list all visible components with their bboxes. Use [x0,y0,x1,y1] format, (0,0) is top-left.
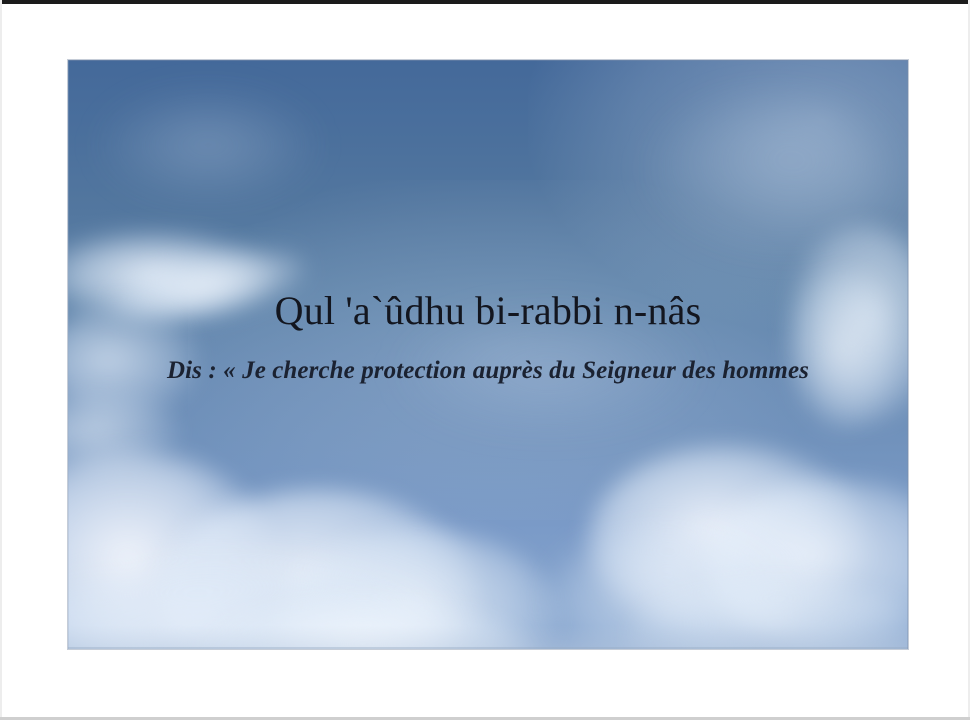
caption-block: Qul 'a`ûdhu bi-rabbi n-nâs Dis : « Je ch… [68,288,908,386]
cloud-bottom-left-2 [158,490,478,649]
cloud-top-right-faint [648,100,888,250]
transliteration-text: Qul 'a`ûdhu bi-rabbi n-nâs [68,288,908,334]
frame-left-rule [0,0,2,720]
cloud-left-wisp-d [68,390,178,470]
cloud-bottom-left-5 [198,600,528,649]
cloud-bottom-right-3 [548,530,788,649]
page-frame: Qul 'a`ûdhu bi-rabbi n-nâs Dis : « Je ch… [0,0,970,720]
cloud-bottom-right-2 [708,480,908,649]
cloud-bottom-right-1 [588,445,868,635]
cloud-bottom-left-4 [68,560,448,649]
frame-top-rule [0,0,970,4]
video-still[interactable]: Qul 'a`ûdhu bi-rabbi n-nâs Dis : « Je ch… [68,60,908,649]
cloud-bottom-right-4 [628,580,908,649]
cloud-bottom-left-1 [68,450,278,649]
cloud-top-left-faint [98,90,318,200]
translation-text: Dis : « Je cherche protection auprès du … [68,356,908,386]
cloud-bottom-left-3 [278,530,558,649]
